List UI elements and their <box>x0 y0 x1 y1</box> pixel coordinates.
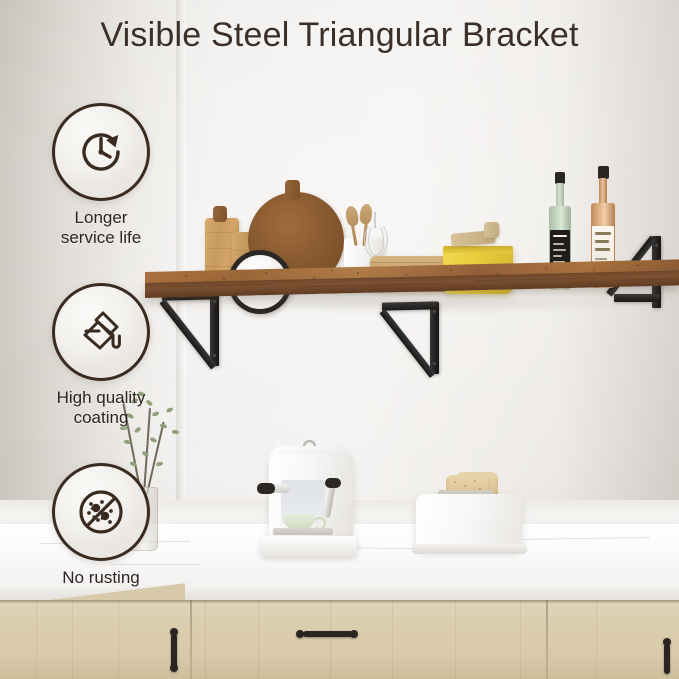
badge-label-1: Longer service life <box>26 208 176 248</box>
product-feature-image: Visible Steel Triangular Bracket Longer … <box>0 0 679 679</box>
page-title: Visible Steel Triangular Bracket <box>0 16 679 55</box>
badge-high-quality-coating: High quality coating <box>26 283 176 428</box>
badge-label-2-line2: coating <box>26 408 176 428</box>
white-espresso-machine <box>255 432 360 560</box>
badge-label-3-line1: No rusting <box>26 568 176 588</box>
steam-wand-grip <box>325 478 341 488</box>
floating-wood-shelf <box>145 272 679 312</box>
paint-pour-icon <box>72 303 130 361</box>
badge-label-1-line2: service life <box>26 228 176 248</box>
cutting-board-tall-handle <box>213 206 227 222</box>
badge-circle-3 <box>52 463 150 561</box>
badge-circle-2 <box>52 283 150 381</box>
badge-label-3: No rusting <box>26 568 176 588</box>
badge-circle-1 <box>52 103 150 201</box>
clock-arrow-icon <box>73 124 129 180</box>
white-toaster-with-toast <box>412 470 527 558</box>
cabinet-handle-left[interactable] <box>168 628 180 674</box>
bracket-center <box>382 302 444 376</box>
badge-label-2-line1: High quality <box>26 388 176 408</box>
badge-label-1-line1: Longer <box>26 208 176 228</box>
badge-longer-service-life: Longer service life <box>26 103 176 248</box>
no-rust-prohibition-icon <box>71 482 131 542</box>
cabinet-handle-center[interactable] <box>296 627 360 641</box>
cabinet-handle-right[interactable] <box>660 638 674 678</box>
portafilter-handle <box>257 483 275 494</box>
badge-label-2: High quality coating <box>26 388 176 428</box>
badge-no-rusting: No rusting <box>26 463 176 588</box>
round-board-handle <box>285 180 300 200</box>
